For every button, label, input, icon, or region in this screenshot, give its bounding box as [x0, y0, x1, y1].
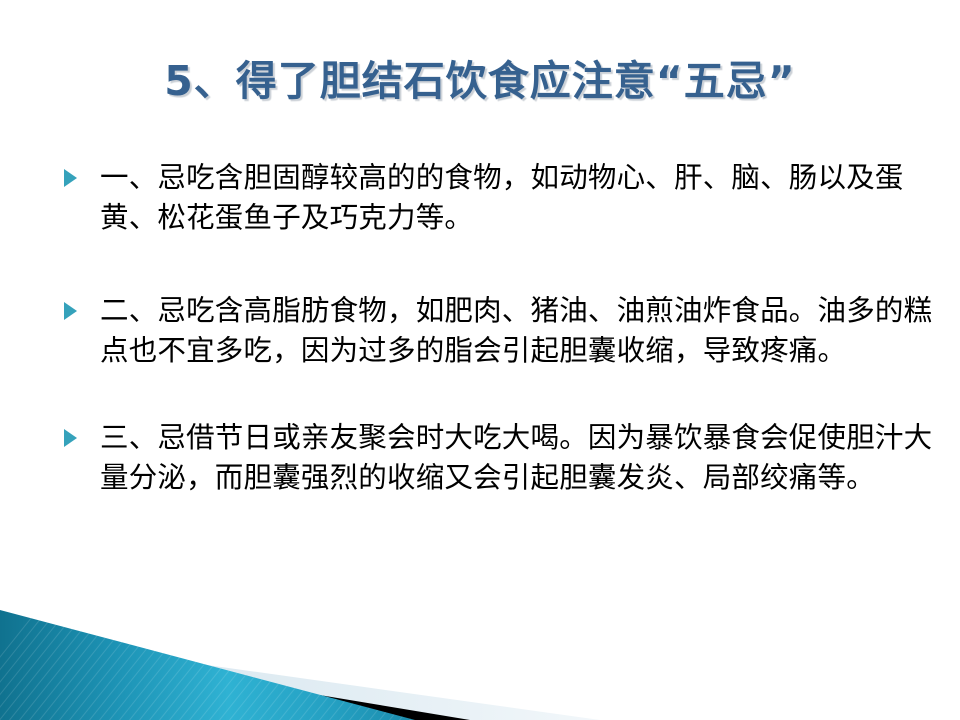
- footer-decoration: [0, 602, 960, 720]
- bullet-list: 一、忌吃含胆固醇较高的的食物，如动物心、肝、脑、肠以及蛋黄、松花蛋鱼子及巧克力等…: [58, 158, 938, 499]
- list-item-text: 一、忌吃含胆固醇较高的的食物，如动物心、肝、脑、肠以及蛋黄、松花蛋鱼子及巧克力等…: [100, 158, 938, 239]
- list-item-text: 二、忌吃含高脂肪食物，如肥肉、猪油、油煎油炸食品。油多的糕点也不宜多吃，因为过多…: [100, 291, 938, 372]
- slide-title: 5、得了胆结石饮食应注意“五忌”: [0, 58, 960, 105]
- list-item: 一、忌吃含胆固醇较高的的食物，如动物心、肝、脑、肠以及蛋黄、松花蛋鱼子及巧克力等…: [58, 158, 938, 239]
- teal-hatch-texture: [0, 602, 520, 720]
- black-diagonal-stripe: [0, 642, 470, 720]
- pale-blue-wedge: [0, 636, 600, 720]
- triangle-right-bullet-icon: [64, 169, 77, 187]
- triangle-right-bullet-icon: [64, 429, 77, 447]
- presentation-slide: 5、得了胆结石饮食应注意“五忌” 一、忌吃含胆固醇较高的的食物，如动物心、肝、脑…: [0, 0, 960, 720]
- teal-wedge: [0, 610, 415, 720]
- triangle-right-bullet-icon: [64, 302, 77, 320]
- list-item: 三、忌借节日或亲友聚会时大吃大喝。因为暴饮暴食会促使胆汁大量分泌，而胆囊强烈的收…: [58, 418, 938, 499]
- diagonal-banner-graphic: [0, 602, 960, 720]
- list-item-text: 三、忌借节日或亲友聚会时大吃大喝。因为暴饮暴食会促使胆汁大量分泌，而胆囊强烈的收…: [100, 418, 938, 499]
- list-item: 二、忌吃含高脂肪食物，如肥肉、猪油、油煎油炸食品。油多的糕点也不宜多吃，因为过多…: [58, 291, 938, 372]
